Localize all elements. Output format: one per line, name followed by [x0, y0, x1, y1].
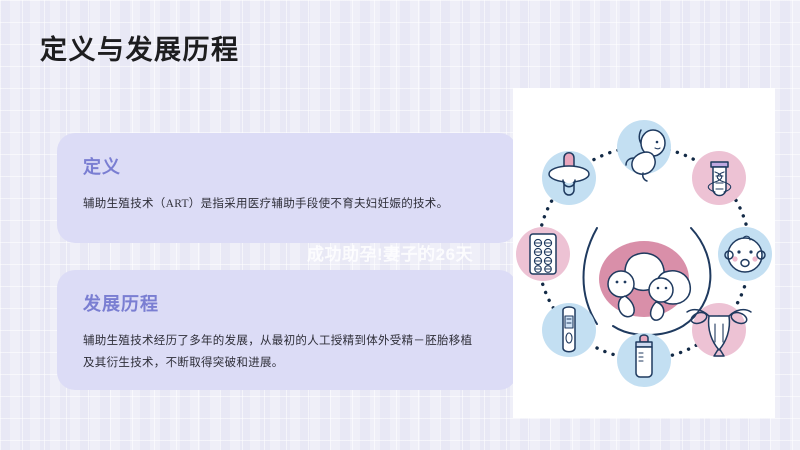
baby-face-icon: [718, 227, 772, 281]
uterus-ovaries-icon: [687, 303, 751, 357]
content-card-definition: 定义 辅助生殖技术（ART）是指采用医疗辅助手段使不育夫妇妊娠的技术。: [57, 133, 517, 243]
baby-bottle-icon: [617, 333, 671, 387]
content-card-history: 发展历程 辅助生殖技术经历了多年的发展，从最初的人工授精到体外受精－胚胎移植及其…: [57, 270, 517, 390]
illustration-panel: .st { fill:none; stroke:#1f3a5f; stroke-…: [513, 88, 775, 418]
pacifier-icon: [542, 151, 596, 205]
card-heading-history: 发展历程: [83, 290, 491, 316]
slide-canvas: 定义与发展历程 定义 辅助生殖技术（ART）是指采用医疗辅助手段使不育夫妇妊娠的…: [0, 0, 800, 450]
card-heading-definition: 定义: [83, 153, 491, 179]
fetus-icon: [617, 120, 671, 181]
card-body-history: 辅助生殖技术经历了多年的发展，从最初的人工授精到体外受精－胚胎移植及其衍生技术，…: [83, 330, 483, 375]
page-title: 定义与发展历程: [40, 28, 240, 67]
pregnancy-test-icon: [542, 303, 596, 357]
watermark-text: 成功助孕!妻子的26天: [307, 240, 473, 265]
dna-test-tube-icon: [692, 151, 746, 205]
pill-blister-icon: [516, 227, 570, 281]
card-body-definition: 辅助生殖技术（ART）是指采用医疗辅助手段使不育夫妇妊娠的技术。: [83, 193, 483, 215]
